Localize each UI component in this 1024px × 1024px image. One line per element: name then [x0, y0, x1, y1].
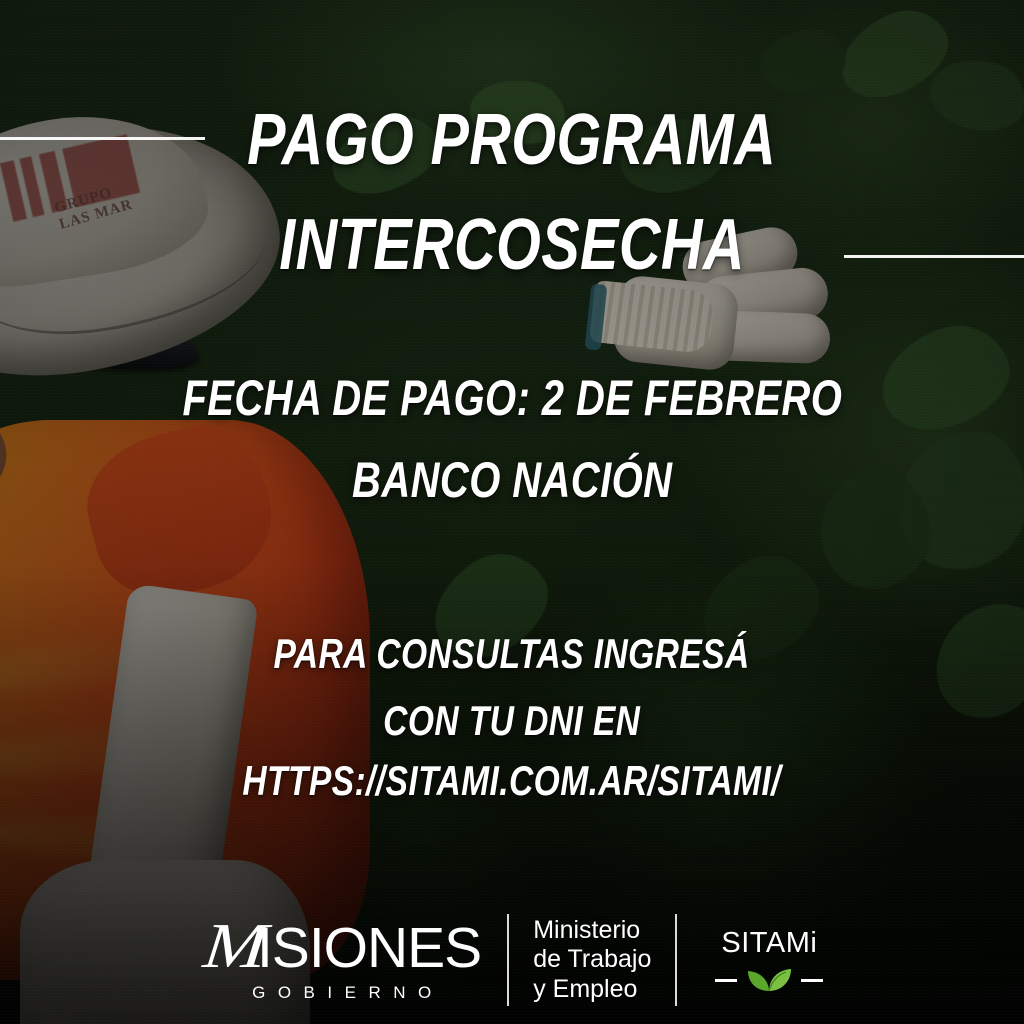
misiones-wordmark-rest: ISIONES [257, 923, 481, 974]
cta-line-1-text: PARA CONSULTAS INGRESÁ [274, 633, 750, 675]
misiones-subtitle: GOBIERNO [252, 983, 444, 1003]
misiones-script-initial: M [201, 917, 264, 975]
poster-canvas: GRUPO LAS MAR PAGO PROGRAMA INTERCOSECHA… [0, 0, 1024, 1024]
misiones-gobierno-logo: M ISIONES GOBIERNO [201, 917, 508, 1003]
sitami-dash-right [801, 979, 823, 982]
payment-date-text: FECHA DE PAGO: 2 DE FEBRERO [182, 373, 842, 423]
headline-line-1-text: PAGO PROGRAMA [248, 104, 777, 176]
cta-line-2: CON TU DNI EN [0, 700, 1024, 742]
payment-date-line: FECHA DE PAGO: 2 DE FEBRERO [0, 373, 1024, 423]
cta-line-2-text: CON TU DNI EN [383, 700, 640, 742]
payment-bank-line: BANCO NACIÓN [0, 455, 1024, 505]
ministry-lockup: Ministerio de Trabajo y Empleo [509, 916, 675, 1005]
headline-line-2: INTERCOSECHA [0, 209, 1024, 281]
cta-url-text[interactable]: HTTPS://SITAMI.COM.AR/SITAMI/ [243, 760, 782, 802]
headline-line-2-text: INTERCOSECHA [279, 209, 745, 281]
leaf-icon [746, 967, 792, 993]
sitami-dash-left [715, 979, 737, 982]
cta-url[interactable]: HTTPS://SITAMI.COM.AR/SITAMI/ [0, 760, 1024, 802]
footer-logo-bar: M ISIONES GOBIERNO Ministerio de Trabajo… [0, 914, 1024, 1006]
sitami-wordmark: SITAMi [721, 927, 817, 960]
payment-bank-text: BANCO NACIÓN [352, 455, 672, 505]
headline-line-1: PAGO PROGRAMA [0, 104, 1024, 176]
misiones-wordmark: M ISIONES [201, 917, 482, 975]
sitami-logo: SITAMi [677, 927, 823, 993]
cta-line-1: PARA CONSULTAS INGRESÁ [0, 633, 1024, 675]
sitami-mark [715, 967, 823, 993]
